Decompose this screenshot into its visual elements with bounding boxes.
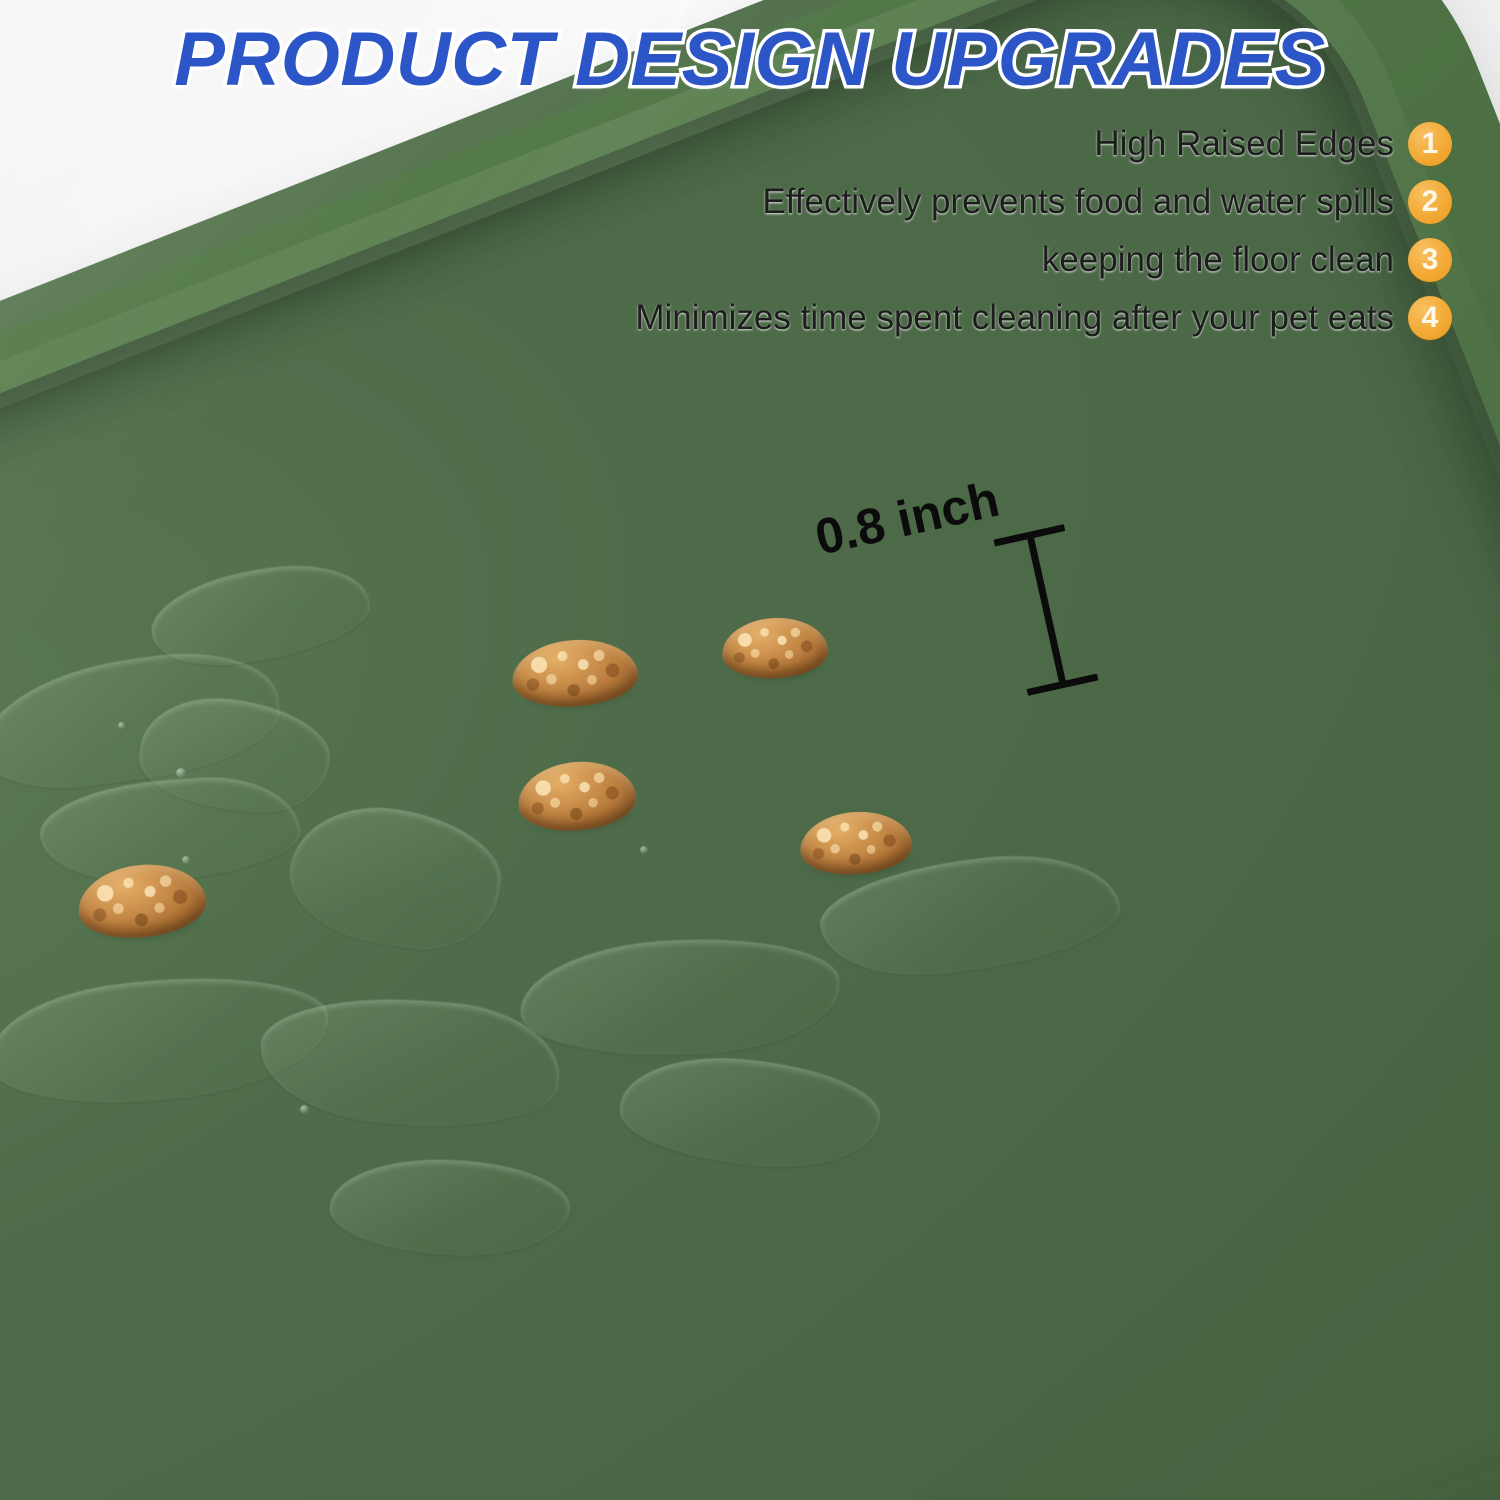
feature-list-item: Minimizes time spent cleaning after your… xyxy=(635,296,1452,340)
feature-number-badge: 2 xyxy=(1408,180,1452,224)
kibble-piece xyxy=(721,615,830,680)
feature-list-item: High Raised Edges 1 xyxy=(1094,122,1452,166)
feature-text: Minimizes time spent cleaning after your… xyxy=(635,298,1394,338)
dimension-stem xyxy=(1027,535,1067,685)
feature-number-badge: 1 xyxy=(1408,122,1452,166)
feature-number-badge: 4 xyxy=(1408,296,1452,340)
kibble-piece xyxy=(510,636,640,711)
feature-number-badge: 3 xyxy=(1408,238,1452,282)
kibble-piece xyxy=(798,808,914,878)
feature-list-item: Effectively prevents food and water spil… xyxy=(762,180,1452,224)
feature-text: keeping the floor clean xyxy=(1042,240,1394,280)
product-image-canvas: 0.8 inch PRODUCT DESIGN UPGRADES High Ra… xyxy=(0,0,1500,1500)
page-title: PRODUCT DESIGN UPGRADES xyxy=(0,16,1500,103)
feature-list: High Raised Edges 1 Effectively prevents… xyxy=(635,122,1452,340)
feature-list-item: keeping the floor clean 3 xyxy=(1042,238,1452,282)
kibble-piece xyxy=(515,757,638,835)
kibble-piece xyxy=(75,859,210,944)
feature-text: Effectively prevents food and water spil… xyxy=(762,182,1394,222)
feature-text: High Raised Edges xyxy=(1094,124,1394,164)
